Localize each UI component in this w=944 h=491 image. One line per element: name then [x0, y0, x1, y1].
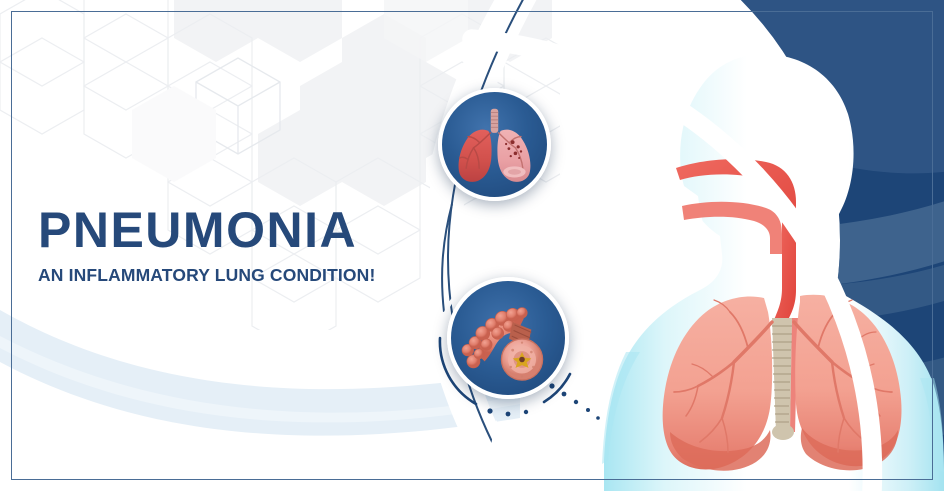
human-respiratory-illustration: [596, 40, 944, 491]
arc-decoration: [430, 0, 760, 491]
badge-pneumonia-lungs[interactable]: [438, 88, 551, 201]
badge-inflamed-alveoli[interactable]: [447, 277, 569, 399]
page-subtitle: AN INFLAMMATORY LUNG CONDITION!: [38, 265, 438, 286]
page-title: PNEUMONIA: [38, 205, 438, 256]
inflamed-alveoli-icon: [451, 281, 565, 395]
navy-background-shape: [440, 0, 944, 491]
lungs: [663, 295, 902, 471]
pneumonia-banner: PNEUMONIA AN INFLAMMATORY LUNG CONDITION…: [0, 0, 944, 491]
torso-silhouette: [604, 54, 944, 491]
wave-decoration: [0, 300, 520, 490]
trachea: [772, 318, 798, 432]
headline-block: PNEUMONIA AN INFLAMMATORY LUNG CONDITION…: [38, 205, 438, 286]
pneumonia-lungs-icon: [442, 92, 547, 197]
airway-system: [676, 159, 798, 432]
